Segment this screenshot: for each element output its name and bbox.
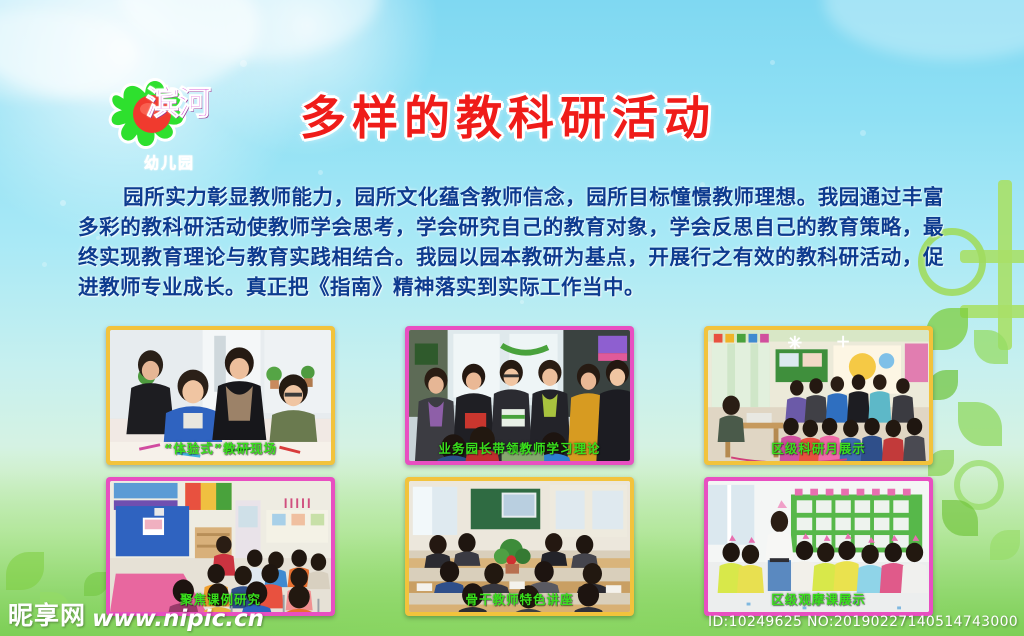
photo-caption: 业务园长带领教师学习理论: [409, 438, 630, 457]
photo-card[interactable]: 骨干教师特色讲座: [405, 477, 634, 616]
photo-caption: “体验式”教研现场: [110, 438, 331, 457]
page-title: 多样的教科研活动: [300, 82, 716, 148]
photo-image: 区级观摩课展示: [708, 481, 929, 612]
logo-name: 滨河: [146, 88, 210, 118]
poster-canvas: 滨河 幼儿园 多样的教科研活动 园所实力彰显教师能力，园所文化蕴含教师信念，园所…: [0, 0, 1024, 636]
cloud-decoration: [824, 0, 1024, 60]
photo-card[interactable]: “体验式”教研现场: [106, 326, 335, 465]
body-paragraph: 园所实力彰显教师能力，园所文化蕴含教师信念，园所目标憧憬教师理想。我园通过丰富多…: [78, 182, 944, 302]
photo-image: 区级科研月展示: [708, 330, 929, 461]
watermark-url: www.nipic.cn: [92, 606, 264, 632]
logo-subtitle: 幼儿园: [144, 152, 195, 173]
photo-caption: 骨干教师特色讲座: [409, 589, 630, 608]
photo-caption: 区级观摩课展示: [708, 589, 929, 608]
photo-grid: “体验式”教研现场: [106, 326, 934, 628]
photo-image: 业务园长带领教师学习理论: [409, 330, 630, 461]
photo-image: 骨干教师特色讲座: [409, 481, 630, 612]
photo-caption: 区级科研月展示: [708, 438, 929, 457]
watermark-brand: 昵享网: [8, 596, 86, 632]
photo-image: “体验式”教研现场: [110, 330, 331, 461]
site-watermark: 昵享网 www.nipic.cn: [8, 596, 264, 632]
photo-row: “体验式”教研现场: [106, 326, 934, 465]
body-paragraph-text: 园所实力彰显教师能力，园所文化蕴含教师信念，园所目标憧憬教师理想。我园通过丰富多…: [78, 182, 944, 302]
photo-image: 聚焦课例研究: [110, 481, 331, 612]
photo-card[interactable]: 业务园长带领教师学习理论: [405, 326, 634, 465]
kindergarten-logo: 滨河 幼儿园: [104, 74, 228, 176]
watermark-id-line: ID:10249625 NO:20190227140514743000: [708, 614, 1018, 630]
photo-card[interactable]: 区级科研月展示: [704, 326, 933, 465]
photo-card[interactable]: 区级观摩课展示: [704, 477, 933, 616]
